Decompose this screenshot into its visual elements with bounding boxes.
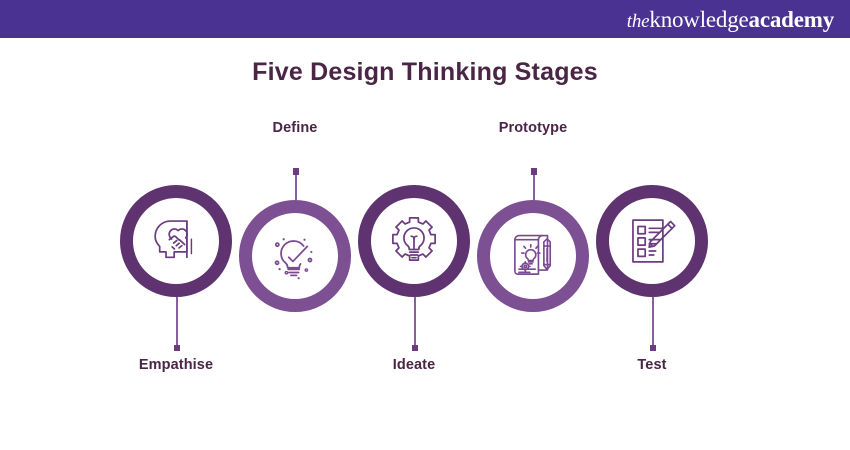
- connector-cap-ideate: [412, 345, 419, 352]
- checklist-pencil-icon: [623, 212, 681, 270]
- connector-ideate: [414, 297, 416, 351]
- connector-cap-prototype: [531, 168, 538, 175]
- connector-cap-define: [293, 168, 300, 175]
- connector-define: [295, 168, 297, 200]
- stage-circle-ideate[interactable]: [358, 185, 470, 297]
- head-heart-handshake-icon: [147, 212, 205, 270]
- connector-cap-empathise: [174, 345, 181, 352]
- blueprint-pencil-icon: [504, 227, 562, 285]
- stage-circle-prototype[interactable]: [477, 200, 589, 312]
- stage-circle-define[interactable]: [239, 200, 351, 312]
- stage-label-empathise: Empathise: [139, 357, 213, 373]
- stage-label-define: Define: [273, 120, 318, 136]
- connector-test: [652, 297, 654, 351]
- stage-label-ideate: Ideate: [393, 357, 436, 373]
- connector-cap-test: [650, 345, 657, 352]
- stage-circle-empathise[interactable]: [120, 185, 232, 297]
- stage-label-test: Test: [637, 357, 666, 373]
- connector-prototype: [533, 168, 535, 200]
- stage-label-prototype: Prototype: [499, 120, 568, 136]
- five-design-thinking-stages-diagram: Empathise: [0, 0, 850, 450]
- stage-circle-test[interactable]: [596, 185, 708, 297]
- gear-lightbulb-icon: [385, 212, 443, 270]
- connector-empathise: [176, 297, 178, 351]
- lightbulb-check-icon: [266, 227, 324, 285]
